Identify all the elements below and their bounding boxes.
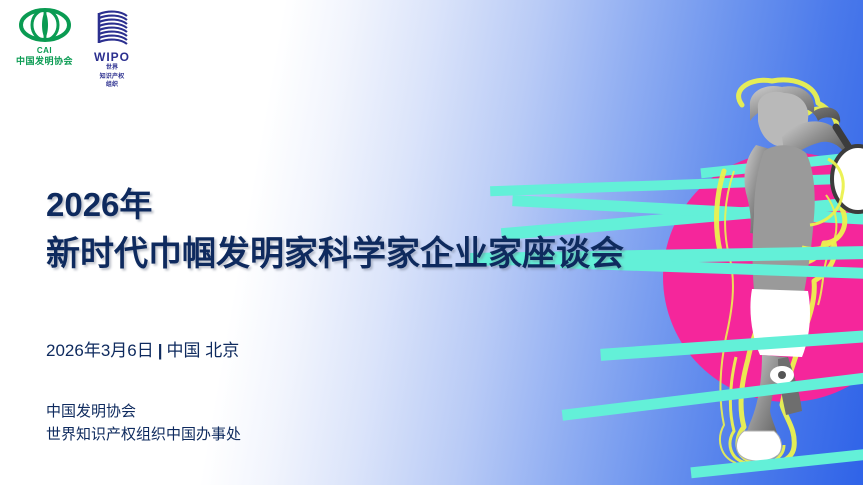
event-date: 2026年3月6日 — [46, 341, 154, 360]
organizer-list: 中国发明协会 世界知识产权组织中国办事处 — [46, 400, 241, 447]
wipo-stripes-mark — [91, 8, 133, 50]
wipo-logo-chinese-line3: 组织 — [91, 82, 133, 90]
organizer-line-2: 世界知识产权组织中国办事处 — [46, 423, 241, 446]
cyan-streak-shape — [690, 448, 863, 478]
pink-circle-shape — [663, 152, 863, 402]
cai-logo-english: CAI — [16, 46, 73, 56]
wipo-logo: WIPO 世界 知识产权 组织 — [91, 8, 133, 90]
meta-separator: | — [154, 341, 167, 360]
cyan-streak-shape — [600, 330, 863, 361]
cyan-streak-shape — [512, 195, 863, 225]
poster-title-year: 2026年 — [46, 178, 152, 226]
event-location: 中国 北京 — [167, 341, 240, 360]
cyan-streak-shape — [700, 150, 863, 178]
poster-title-main: 新时代巾帼发明家科学家企业家座谈会 — [46, 226, 624, 275]
cyan-streak-shape — [562, 372, 863, 421]
organizer-line-1: 中国发明协会 — [46, 400, 241, 423]
wipo-logo-chinese-line1: 世界 — [91, 65, 133, 73]
cai-globe-mark — [19, 8, 71, 42]
poster-meta-line: 2026年3月6日|中国 北京 — [46, 336, 239, 361]
logo-bar: CAI 中国发明协会 WIPO 世界 知识产权 组织 — [16, 8, 133, 90]
cai-logo-chinese: 中国发明协会 — [16, 56, 73, 68]
cai-logo: CAI 中国发明协会 — [16, 8, 73, 67]
poster-canvas: CAI 中国发明协会 WIPO 世界 知识产权 组织 — [0, 0, 863, 485]
wipo-logo-english: WIPO — [91, 51, 133, 64]
tennis-player-photo — [690, 75, 863, 470]
wipo-logo-chinese-line2: 知识产权 — [91, 74, 133, 82]
cyan-streak-shape — [490, 173, 863, 196]
